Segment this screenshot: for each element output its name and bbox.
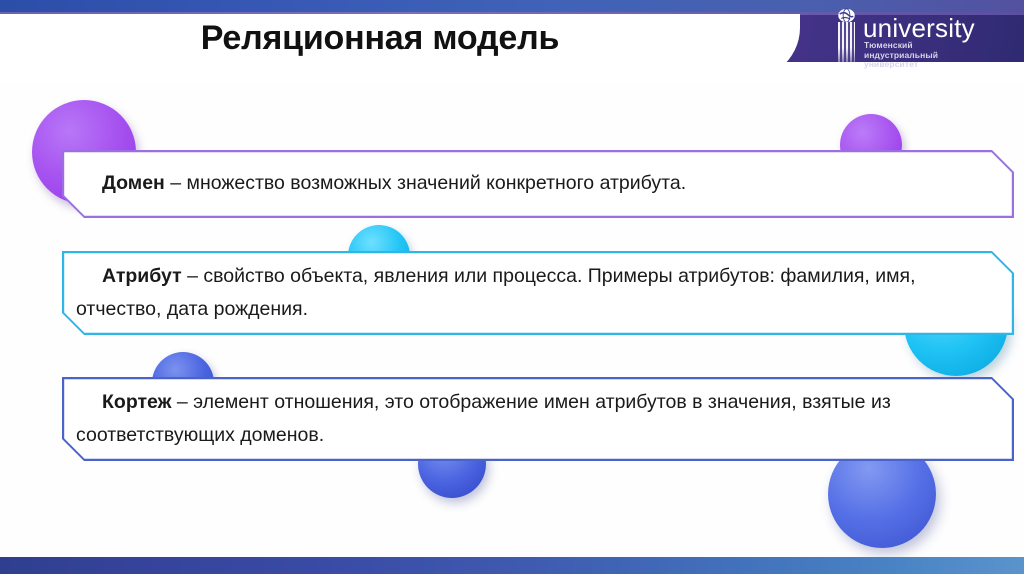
slide-canvas: Реляционная модель university Тюменский … [0, 0, 1024, 574]
definition-text: Атрибут – свойство объекта, явления или … [62, 251, 1014, 326]
logo-wordmark: university [863, 14, 975, 42]
logo-subtitle: Тюменский индустриальный университет [864, 41, 938, 70]
definition-box-kortezh: Кортеж – элемент отношения, это отображе… [62, 377, 1014, 461]
term-dash: – [182, 265, 204, 287]
page-title: Реляционная модель [0, 15, 760, 61]
definition-box-domen: Домен – множество возможных значений кон… [62, 150, 1014, 218]
definition-body: множество возможных значений конкретного… [187, 172, 687, 194]
definition-body: элемент отношения, это отображение имен … [76, 391, 891, 446]
definition-text: Домен – множество возможных значений кон… [62, 150, 1014, 200]
definition-box-atribut: Атрибут – свойство объекта, явления или … [62, 251, 1014, 335]
term-dash: – [165, 172, 187, 194]
term-label: Домен [102, 172, 165, 194]
term-label: Кортеж [102, 391, 171, 413]
definition-text: Кортеж – элемент отношения, это отображе… [62, 377, 1014, 452]
slide-header: Реляционная модель university Тюменский … [0, 0, 1024, 84]
globe-icon [837, 8, 856, 23]
slide-bottom-bar [0, 557, 1024, 574]
term-label: Атрибут [102, 265, 182, 287]
term-dash: – [171, 391, 193, 413]
logo-bars-mark [838, 22, 855, 66]
logo-subtitle-line-3: университет [864, 60, 938, 70]
university-logo: university Тюменский индустриальный унив… [836, 8, 1016, 68]
